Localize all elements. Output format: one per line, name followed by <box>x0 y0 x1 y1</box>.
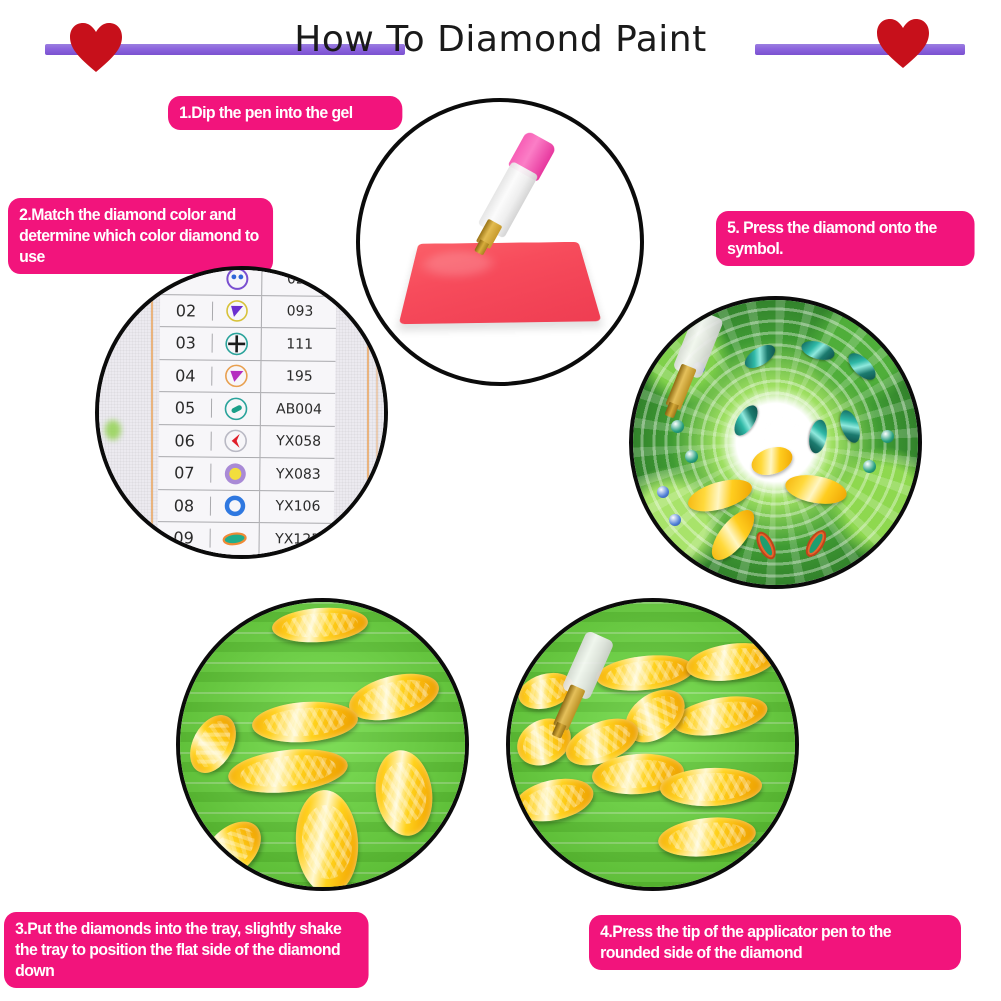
teal-bar-circle-icon <box>212 393 261 425</box>
plus-cross-circle-icon <box>213 328 262 360</box>
legend-dmc: AB004 <box>261 401 335 418</box>
mandala-pattern-overlay <box>633 300 918 585</box>
step-2-photo: 020 02 093 03 111 04 <box>95 266 388 559</box>
double-dot-circle-icon <box>213 266 262 295</box>
teal-leaf-orange-outline-icon <box>210 523 259 555</box>
table-row: 09 YX125 <box>157 522 333 556</box>
table-row: 06 YX058 <box>158 425 334 459</box>
red-arrow-left-circle-icon <box>211 425 260 457</box>
legend-dmc: YX106 <box>260 498 334 515</box>
infographic-root: How To Diamond Paint 1.Dip the pen into … <box>0 0 1001 1001</box>
legend-dmc: 093 <box>262 303 336 320</box>
symbol-legend-table: 020 02 093 03 111 04 <box>157 266 336 556</box>
step-3-label: 3.Put the diamonds into the tray, slight… <box>4 912 369 988</box>
table-row: 07 YX083 <box>158 457 334 491</box>
table-row: 08 YX106 <box>158 490 334 524</box>
page-title: How To Diamond Paint <box>0 18 1001 62</box>
blue-open-ring-icon <box>211 490 260 522</box>
canvas-guide-line <box>376 270 378 555</box>
step-5-photo <box>629 296 922 589</box>
table-row: 03 111 <box>160 327 336 361</box>
magenta-triangle-circle-icon <box>212 360 261 392</box>
canvas-guide-line <box>151 270 153 555</box>
table-row: 02 093 <box>160 295 336 329</box>
step-1-photo <box>356 98 644 386</box>
legend-code: 06 <box>159 431 212 451</box>
legend-dmc: 111 <box>262 336 336 353</box>
step-4-label: 4.Press the tip of the applicator pen to… <box>589 915 961 970</box>
legend-code: 03 <box>160 333 213 353</box>
table-row: 05 AB004 <box>159 392 335 426</box>
green-dot-gem <box>685 450 698 463</box>
legend-code: 05 <box>159 398 212 418</box>
gel-pad <box>399 242 602 325</box>
canvas-guide-line <box>367 270 369 555</box>
table-row: 020 <box>160 266 336 296</box>
legend-code: 02 <box>160 301 213 321</box>
table-row: 04 195 <box>159 360 335 394</box>
header: How To Diamond Paint <box>0 0 1001 86</box>
canvas-green-mark <box>105 420 121 440</box>
legend-code: 07 <box>158 463 211 483</box>
green-dot-gem <box>863 460 876 473</box>
step-2-label: 2.Match the diamond color and determine … <box>8 198 273 274</box>
purple-triangle-circle-icon <box>213 295 262 327</box>
legend-code: 08 <box>158 496 211 516</box>
legend-dmc: 020 <box>262 271 336 288</box>
step-4-photo <box>506 598 799 891</box>
legend-dmc: 195 <box>261 368 335 385</box>
blue-dot-gem <box>657 486 669 498</box>
step-5-label: 5. Press the diamond onto the symbol. <box>716 211 975 266</box>
legend-dmc: YX125 <box>260 531 334 548</box>
step-3-photo <box>176 598 469 891</box>
green-dot-gem <box>881 430 894 443</box>
legend-code: 04 <box>159 366 212 386</box>
yellow-dot-purple-ring-icon <box>211 458 260 490</box>
legend-code <box>160 278 213 279</box>
legend-dmc: YX083 <box>260 466 334 483</box>
legend-dmc: YX058 <box>261 433 335 450</box>
canvas-teal-mark <box>101 488 125 510</box>
legend-code: 09 <box>158 528 211 548</box>
blue-dot-gem <box>669 514 681 526</box>
